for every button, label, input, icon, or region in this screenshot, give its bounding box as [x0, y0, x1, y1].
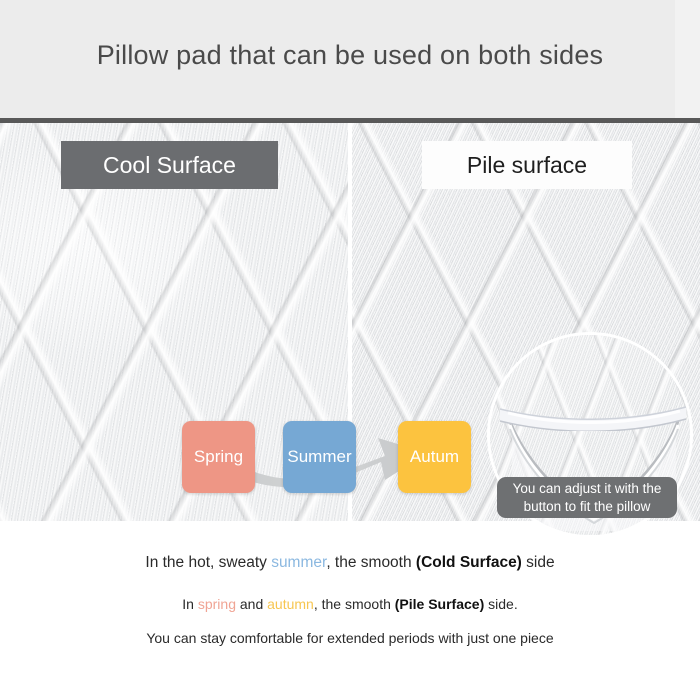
footer-line-2-part4: side.	[484, 596, 517, 612]
pile-surface-label-text: Pile surface	[467, 152, 587, 179]
footer-line-2-part2: and	[236, 596, 267, 612]
footer-line-2-highlight-autumn: autumn	[267, 596, 314, 612]
detail-inset-caption: You can adjust it with the button to fit…	[497, 477, 677, 518]
footer-line-1-part2: , the smooth	[326, 554, 416, 571]
season-chip-autumn-label: Autum	[410, 447, 459, 467]
footer-line-2-part1: In	[182, 596, 198, 612]
elastic-strap-icon	[498, 405, 688, 431]
page-title: Pillow pad that can be used on both side…	[0, 40, 700, 71]
season-chip-summer[interactable]: Summer	[283, 421, 356, 493]
footer-line-3: You can stay comfortable for extended pe…	[0, 630, 700, 646]
footer-line-1: In the hot, sweaty summer, the smooth (C…	[0, 554, 700, 572]
footer-line-2-part3: , the smooth	[314, 596, 395, 612]
footer-line-1-bold-cold-surface: (Cold Surface)	[416, 554, 522, 571]
footer-line-2-highlight-spring: spring	[198, 596, 236, 612]
footer-line-2: In spring and autumn, the smooth (Pile S…	[0, 596, 700, 612]
season-chip-spring[interactable]: Spring	[182, 421, 255, 493]
season-chip-autumn[interactable]: Autum	[398, 421, 471, 493]
season-chip-summer-label: Summer	[287, 447, 351, 467]
cool-surface-label-box: Cool Surface	[61, 141, 278, 189]
pile-surface-label-box: Pile surface	[422, 141, 632, 189]
detail-inset-caption-line1: You can adjust it with the	[513, 480, 662, 498]
detail-inset-caption-line2: button to fit the pillow	[524, 498, 651, 516]
footer-line-2-bold-pile-surface: (Pile Surface)	[395, 596, 484, 612]
footer-line-1-part1: In the hot, sweaty	[145, 554, 271, 571]
product-detail-page: Pillow pad that can be used on both side…	[0, 0, 700, 700]
footer-line-1-part3: side	[522, 554, 555, 571]
season-chip-spring-label: Spring	[194, 447, 243, 467]
footer-line-1-highlight-summer: summer	[271, 554, 326, 571]
cool-surface-label-text: Cool Surface	[103, 152, 236, 179]
